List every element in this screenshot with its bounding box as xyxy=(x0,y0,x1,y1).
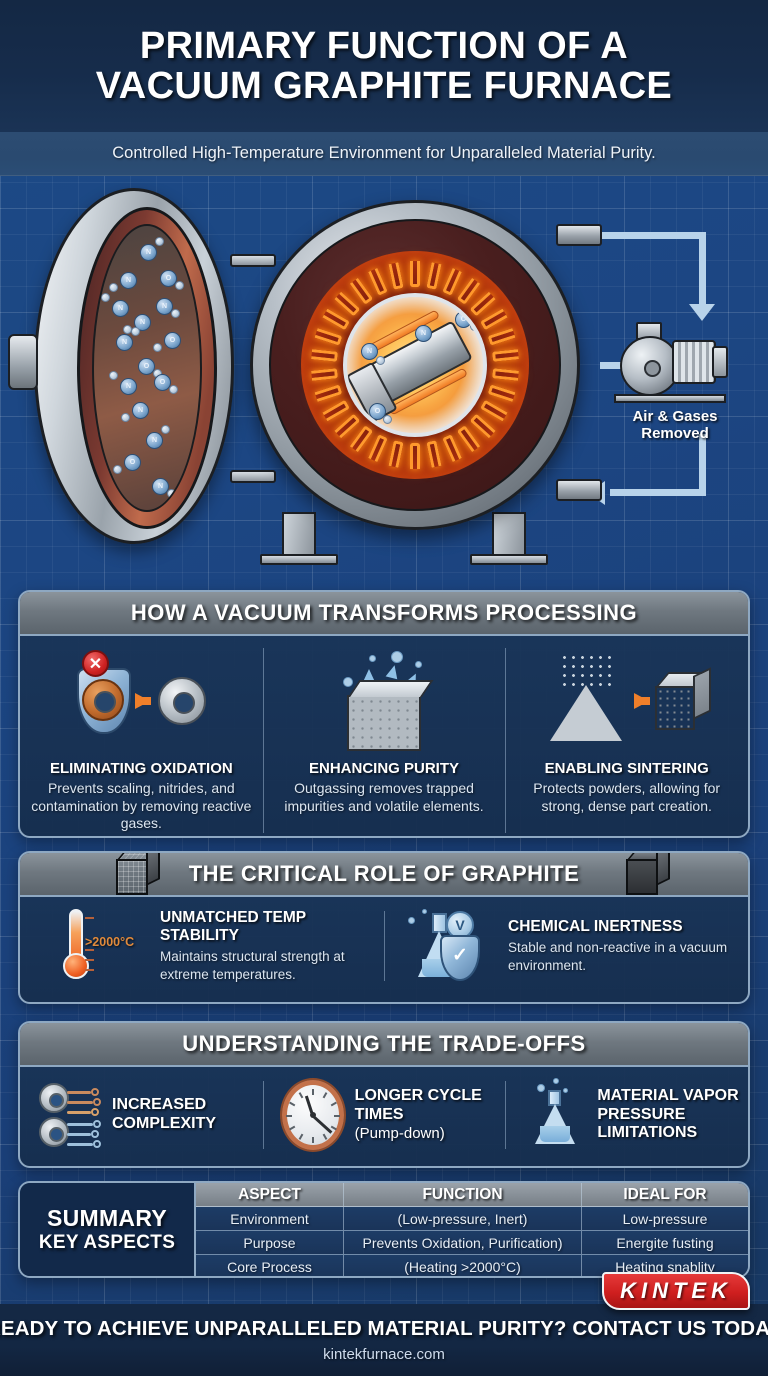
panel-tradeoffs: UNDERSTANDING THE TRADE-OFFS xyxy=(18,1021,750,1168)
cell-function: (Heating >2000°C) xyxy=(344,1255,582,1278)
heating-element xyxy=(368,268,389,299)
heating-element xyxy=(388,436,404,467)
gas-bubble xyxy=(408,917,415,924)
card-description: Maintains structural strength at extreme… xyxy=(160,948,374,983)
gas-bubble xyxy=(553,1078,559,1084)
cell-aspect: Environment xyxy=(196,1207,344,1231)
circuit-node xyxy=(93,1140,101,1148)
cell-ideal-for: Energite fusting xyxy=(582,1231,748,1255)
circuit-trace xyxy=(67,1111,91,1114)
arrow-right-icon xyxy=(135,693,150,709)
card-description: Outgassing removes trapped impurities an… xyxy=(273,780,496,815)
card-line-1: MATERIAL VAPOR xyxy=(597,1087,738,1106)
atom-satellite xyxy=(109,371,118,380)
door-outer-shell: NNONNNNOONONNON xyxy=(34,188,234,544)
footer-banner: KINTEK READY TO ACHIEVE UNPARALLELED MAT… xyxy=(0,1304,768,1376)
circuit-trace xyxy=(67,1123,93,1126)
gears-circuit-icon xyxy=(28,1079,112,1151)
cell-aspect: Core Process xyxy=(196,1255,344,1278)
pump-motor xyxy=(672,340,716,384)
flask-glyph xyxy=(531,1084,579,1146)
panel-title-vacuum: HOW A VACUUM TRANSFORMS PROCESSING xyxy=(131,600,637,626)
panel-header-tradeoffs: UNDERSTANDING THE TRADE-OFFS xyxy=(20,1023,748,1067)
graphite-cube-icon xyxy=(626,851,670,897)
gear-icon xyxy=(39,1083,69,1113)
cube-front-face xyxy=(626,859,658,895)
arrow-up-icon xyxy=(386,664,401,680)
heating-element xyxy=(488,368,519,381)
cube-side-face xyxy=(146,851,160,886)
porous-block-icon xyxy=(347,695,421,751)
circuit-node xyxy=(91,1108,99,1116)
circuit-node xyxy=(91,1130,99,1138)
heating-element xyxy=(484,383,516,402)
close-icon: ✕ xyxy=(82,650,109,677)
circuit-trace xyxy=(67,1133,91,1136)
furnace-leg-base-right xyxy=(470,554,548,565)
subtitle-bar: Controlled High-Temperature Environment … xyxy=(0,132,768,176)
clock-mark xyxy=(312,1137,314,1143)
table-header-row: ASPECT FUNCTION IDEAL FOR xyxy=(196,1183,748,1207)
circuit-trace xyxy=(67,1143,93,1146)
card-longer-cycle-times[interactable]: LONGER CYCLE TIMES (Pump-down) xyxy=(263,1067,506,1163)
flask-shield-icon: V ✓ xyxy=(394,913,486,979)
clock-mark xyxy=(286,1115,292,1117)
card-line-3: LIMITATIONS xyxy=(597,1124,738,1143)
atom-satellite xyxy=(101,293,110,302)
atom-satellite xyxy=(131,327,140,336)
summary-label-line-1: SUMMARY xyxy=(47,1205,167,1232)
temperature-badge: >2000°C xyxy=(85,935,134,949)
circuit-node xyxy=(93,1098,101,1106)
card-title: CHEMICAL INERTNESS xyxy=(508,918,738,936)
cell-aspect: Purpose xyxy=(196,1231,344,1255)
page-title-line-1: PRIMARY FUNCTION OF A xyxy=(140,26,628,66)
cube-side-face xyxy=(693,667,711,720)
card-increased-complexity[interactable]: INCREASED COMPLEXITY xyxy=(20,1067,263,1163)
card-line-2: PRESSURE xyxy=(597,1106,738,1125)
panel-title-graphite: THE CRITICAL ROLE OF GRAPHITE xyxy=(189,861,580,887)
card-enabling-sintering[interactable]: ENABLING SINTERING Protects powders, all… xyxy=(505,636,748,838)
flask-neck xyxy=(432,913,447,933)
clock-mark xyxy=(298,1092,303,1098)
shield-icon xyxy=(77,668,131,734)
clock-mark xyxy=(334,1115,340,1117)
heating-element xyxy=(488,349,519,362)
atom-core: N xyxy=(140,244,157,261)
atom-satellite xyxy=(153,343,162,352)
panel-body-graphite: >2000°C UNMATCHED TEMP STABILITY Maintai… xyxy=(20,897,748,995)
card-vapor-pressure[interactable]: MATERIAL VAPOR PRESSURE LIMITATIONS xyxy=(505,1067,748,1163)
pump-end-cap xyxy=(712,346,728,378)
cell-function: (Low-pressure, Inert) xyxy=(344,1207,582,1231)
card-temp-stability[interactable]: >2000°C UNMATCHED TEMP STABILITY Maintai… xyxy=(20,897,384,995)
clock-mark xyxy=(312,1089,314,1095)
card-line-2: TIMES xyxy=(355,1106,482,1125)
door-interior: NNONNNNOONONNON xyxy=(92,224,202,512)
thermometer-tick xyxy=(85,959,94,961)
pipe-top-vertical xyxy=(699,232,706,308)
gas-bubble xyxy=(343,677,353,687)
clock-mark xyxy=(330,1102,336,1107)
card-eliminating-oxidation[interactable]: ✕ ELIMINATING OXIDATION Prevents scaling… xyxy=(20,636,263,838)
clock-glyph xyxy=(282,1080,344,1150)
atom-satellite xyxy=(121,413,130,422)
heating-element xyxy=(388,262,404,293)
panel-graphite-role: THE CRITICAL ROLE OF GRAPHITE > xyxy=(18,851,750,1004)
thermometer-tick xyxy=(85,949,94,951)
vacuum-port-top xyxy=(556,224,602,246)
sintered-cube-icon xyxy=(655,672,711,730)
atom-core: N xyxy=(112,300,129,317)
heating-element xyxy=(315,383,347,402)
gas-bubble xyxy=(415,661,422,668)
panel-header-vacuum: HOW A VACUUM TRANSFORMS PROCESSING xyxy=(20,592,748,636)
pump-label-line-2: Removed xyxy=(600,425,750,442)
clock-mark xyxy=(322,1092,327,1098)
infographic-page: PRIMARY FUNCTION OF A VACUUM GRAPHITE FU… xyxy=(0,0,768,1376)
panel-title-tradeoffs: UNDERSTANDING THE TRADE-OFFS xyxy=(182,1031,585,1057)
clock-center-pin xyxy=(310,1112,316,1118)
panel-vacuum-processing: HOW A VACUUM TRANSFORMS PROCESSING ✕ ELI… xyxy=(18,590,750,838)
powder-to-cube-icon xyxy=(515,646,738,756)
heating-element xyxy=(477,309,508,333)
door-seal-ring: NNONNNNOONONNON xyxy=(77,207,217,529)
card-description: Protects powders, allowing for strong, d… xyxy=(515,780,738,815)
header-banner: PRIMARY FUNCTION OF A VACUUM GRAPHITE FU… xyxy=(0,0,768,132)
atom-satellite xyxy=(171,309,180,318)
furnace-leg-left xyxy=(282,512,316,560)
page-subtitle: Controlled High-Temperature Environment … xyxy=(112,144,656,163)
gas-bubble xyxy=(563,1088,568,1093)
atom-core: N xyxy=(120,272,137,289)
brand-logo[interactable]: KINTEK xyxy=(602,1272,750,1310)
furnace-illustration: N O N O O xyxy=(0,176,768,586)
heating-element xyxy=(484,328,516,347)
card-text: INCREASED COMPLEXITY xyxy=(112,1096,216,1134)
card-text: CHEMICAL INERTNESS Stable and non-reacti… xyxy=(486,918,738,974)
gas-bubble xyxy=(369,655,376,662)
furnace-vessel: N O N O O xyxy=(250,200,580,530)
flask-bubbles-icon xyxy=(513,1084,597,1146)
furnace-chamber: N O N O O xyxy=(343,293,487,437)
outgassing-block-icon xyxy=(273,646,496,756)
rusted-gear-icon xyxy=(82,679,124,721)
table-row: Purpose Prevents Oxidation, Purification… xyxy=(196,1231,748,1255)
clean-gear-icon xyxy=(158,677,206,725)
furnace-leg-right xyxy=(492,512,526,560)
atom-satellite xyxy=(167,489,176,498)
cube-front-face xyxy=(655,686,695,730)
card-description: Stable and non-reactive in a vacuum envi… xyxy=(508,939,738,974)
thermometer-glyph: >2000°C xyxy=(63,909,89,983)
pipe-top-horizontal xyxy=(596,232,706,239)
clock-mark xyxy=(289,1102,295,1107)
circuit-node xyxy=(91,1088,99,1096)
cube-side-face xyxy=(656,851,670,886)
pipe-bottom-horizontal xyxy=(610,489,706,496)
cell-ideal-for: Low-pressure xyxy=(582,1207,748,1231)
heating-element xyxy=(425,436,441,467)
flask-glyph: V ✓ xyxy=(412,913,468,979)
furnace-door: NNONNNNOONONNON xyxy=(34,188,264,548)
vacuum-pump-icon xyxy=(620,326,728,398)
cell-function: Prevents Oxidation, Purification) xyxy=(344,1231,582,1255)
heating-element xyxy=(410,261,420,291)
footer-cta: READY TO ACHIEVE UNPARALLELED MATERIAL P… xyxy=(0,1317,768,1341)
pump-impeller xyxy=(620,336,680,396)
card-line-3: (Pump-down) xyxy=(355,1125,482,1143)
summary-table: SUMMARY KEY ASPECTS ASPECT FUNCTION IDEA… xyxy=(18,1181,750,1278)
thermometer-tick xyxy=(85,969,94,971)
panel-body-tradeoffs: INCREASED COMPLEXITY xyxy=(20,1067,748,1163)
atom-core: O xyxy=(164,332,181,349)
block-top-face xyxy=(348,680,433,697)
atom-core: N xyxy=(146,432,163,449)
heating-element xyxy=(441,431,462,462)
card-title: ELIMINATING OXIDATION xyxy=(30,760,253,777)
atom-satellite xyxy=(161,425,170,434)
clock-mark xyxy=(298,1134,303,1140)
shield-gear-oxidation-icon: ✕ xyxy=(30,646,253,756)
atom-core: N xyxy=(132,402,149,419)
pump-label: Air & Gases Removed xyxy=(600,408,750,443)
atom-core: N xyxy=(116,334,133,351)
arrow-down-icon xyxy=(689,304,715,321)
powder-particles xyxy=(560,653,612,687)
clock-mark xyxy=(289,1126,295,1131)
circuit-glyph xyxy=(37,1079,103,1151)
atom-core: N xyxy=(120,378,137,395)
atom-satellite xyxy=(169,385,178,394)
cube-front-face xyxy=(116,859,148,895)
circuit-trace xyxy=(67,1101,93,1104)
thermometer-bulb xyxy=(63,953,89,979)
heating-element xyxy=(368,431,389,462)
card-text: UNMATCHED TEMP STABILITY Maintains struc… xyxy=(122,909,374,983)
atom-satellite xyxy=(109,283,118,292)
door-handle xyxy=(8,334,38,390)
furnace-rim: N O N O O xyxy=(269,219,561,511)
gas-bubble xyxy=(537,1084,545,1092)
gas-bubble xyxy=(422,909,427,914)
card-title: ENABLING SINTERING xyxy=(515,760,738,777)
heating-element xyxy=(425,262,441,293)
powder-pile-icon xyxy=(550,685,622,741)
flask-liquid xyxy=(540,1126,570,1142)
card-chemical-inertness[interactable]: V ✓ CHEMICAL INERTNESS Stable and non-re… xyxy=(384,897,748,995)
heating-element xyxy=(315,328,347,347)
gear-icon xyxy=(39,1117,69,1147)
clock-mark xyxy=(322,1134,327,1140)
footer-url[interactable]: kintekfurnace.com xyxy=(323,1346,445,1363)
circuit-trace xyxy=(67,1091,91,1094)
card-text: MATERIAL VAPOR PRESSURE LIMITATIONS xyxy=(597,1087,738,1144)
atom-satellite xyxy=(175,281,184,290)
summary-label-line-2: KEY ASPECTS xyxy=(39,1232,175,1254)
panel-header-graphite: THE CRITICAL ROLE OF GRAPHITE xyxy=(20,853,748,897)
card-line-1: INCREASED xyxy=(112,1096,216,1115)
thermometer-icon: >2000°C xyxy=(30,909,122,983)
pump-label-line-1: Air & Gases xyxy=(600,408,750,425)
card-description: Prevents scaling, nitrides, and contamin… xyxy=(30,780,253,833)
graphite-block-icon xyxy=(116,851,160,897)
card-enhancing-purity[interactable]: ENHANCING PURITY Outgassing removes trap… xyxy=(263,636,506,838)
gas-bubble xyxy=(391,651,403,663)
thermometer-tick xyxy=(85,917,94,919)
heating-element xyxy=(311,349,342,362)
clock-icon xyxy=(271,1080,355,1150)
heating-element xyxy=(410,439,420,469)
column-header-aspect: ASPECT xyxy=(196,1183,344,1207)
summary-label: SUMMARY KEY ASPECTS xyxy=(20,1183,196,1276)
column-header-ideal-for: IDEAL FOR xyxy=(582,1183,748,1207)
vacuum-port-bottom xyxy=(556,479,602,501)
table-row: Environment (Low-pressure, Inert) Low-pr… xyxy=(196,1207,748,1231)
card-line-1: LONGER CYCLE xyxy=(355,1087,482,1106)
atom-satellite xyxy=(155,237,164,246)
card-title: UNMATCHED TEMP STABILITY xyxy=(160,909,374,945)
pump-base-plate xyxy=(614,394,726,403)
panel-body-vacuum: ✕ ELIMINATING OXIDATION Prevents scaling… xyxy=(20,636,748,838)
atom-satellite xyxy=(113,465,122,474)
furnace-leg-base-left xyxy=(260,554,338,565)
atom-core: O xyxy=(124,454,141,471)
card-title: ENHANCING PURITY xyxy=(273,760,496,777)
circuit-node xyxy=(93,1120,101,1128)
card-text: LONGER CYCLE TIMES (Pump-down) xyxy=(355,1087,482,1142)
column-header-function: FUNCTION xyxy=(344,1183,582,1207)
summary-grid: ASPECT FUNCTION IDEAL FOR Environment (L… xyxy=(196,1183,748,1276)
pipe-bottom-vertical xyxy=(699,434,706,496)
page-title-line-2: VACUUM GRAPHITE FURNACE xyxy=(96,66,672,106)
card-line-2: COMPLEXITY xyxy=(112,1115,216,1134)
heating-element xyxy=(311,368,342,381)
arrow-right-icon xyxy=(634,693,649,709)
